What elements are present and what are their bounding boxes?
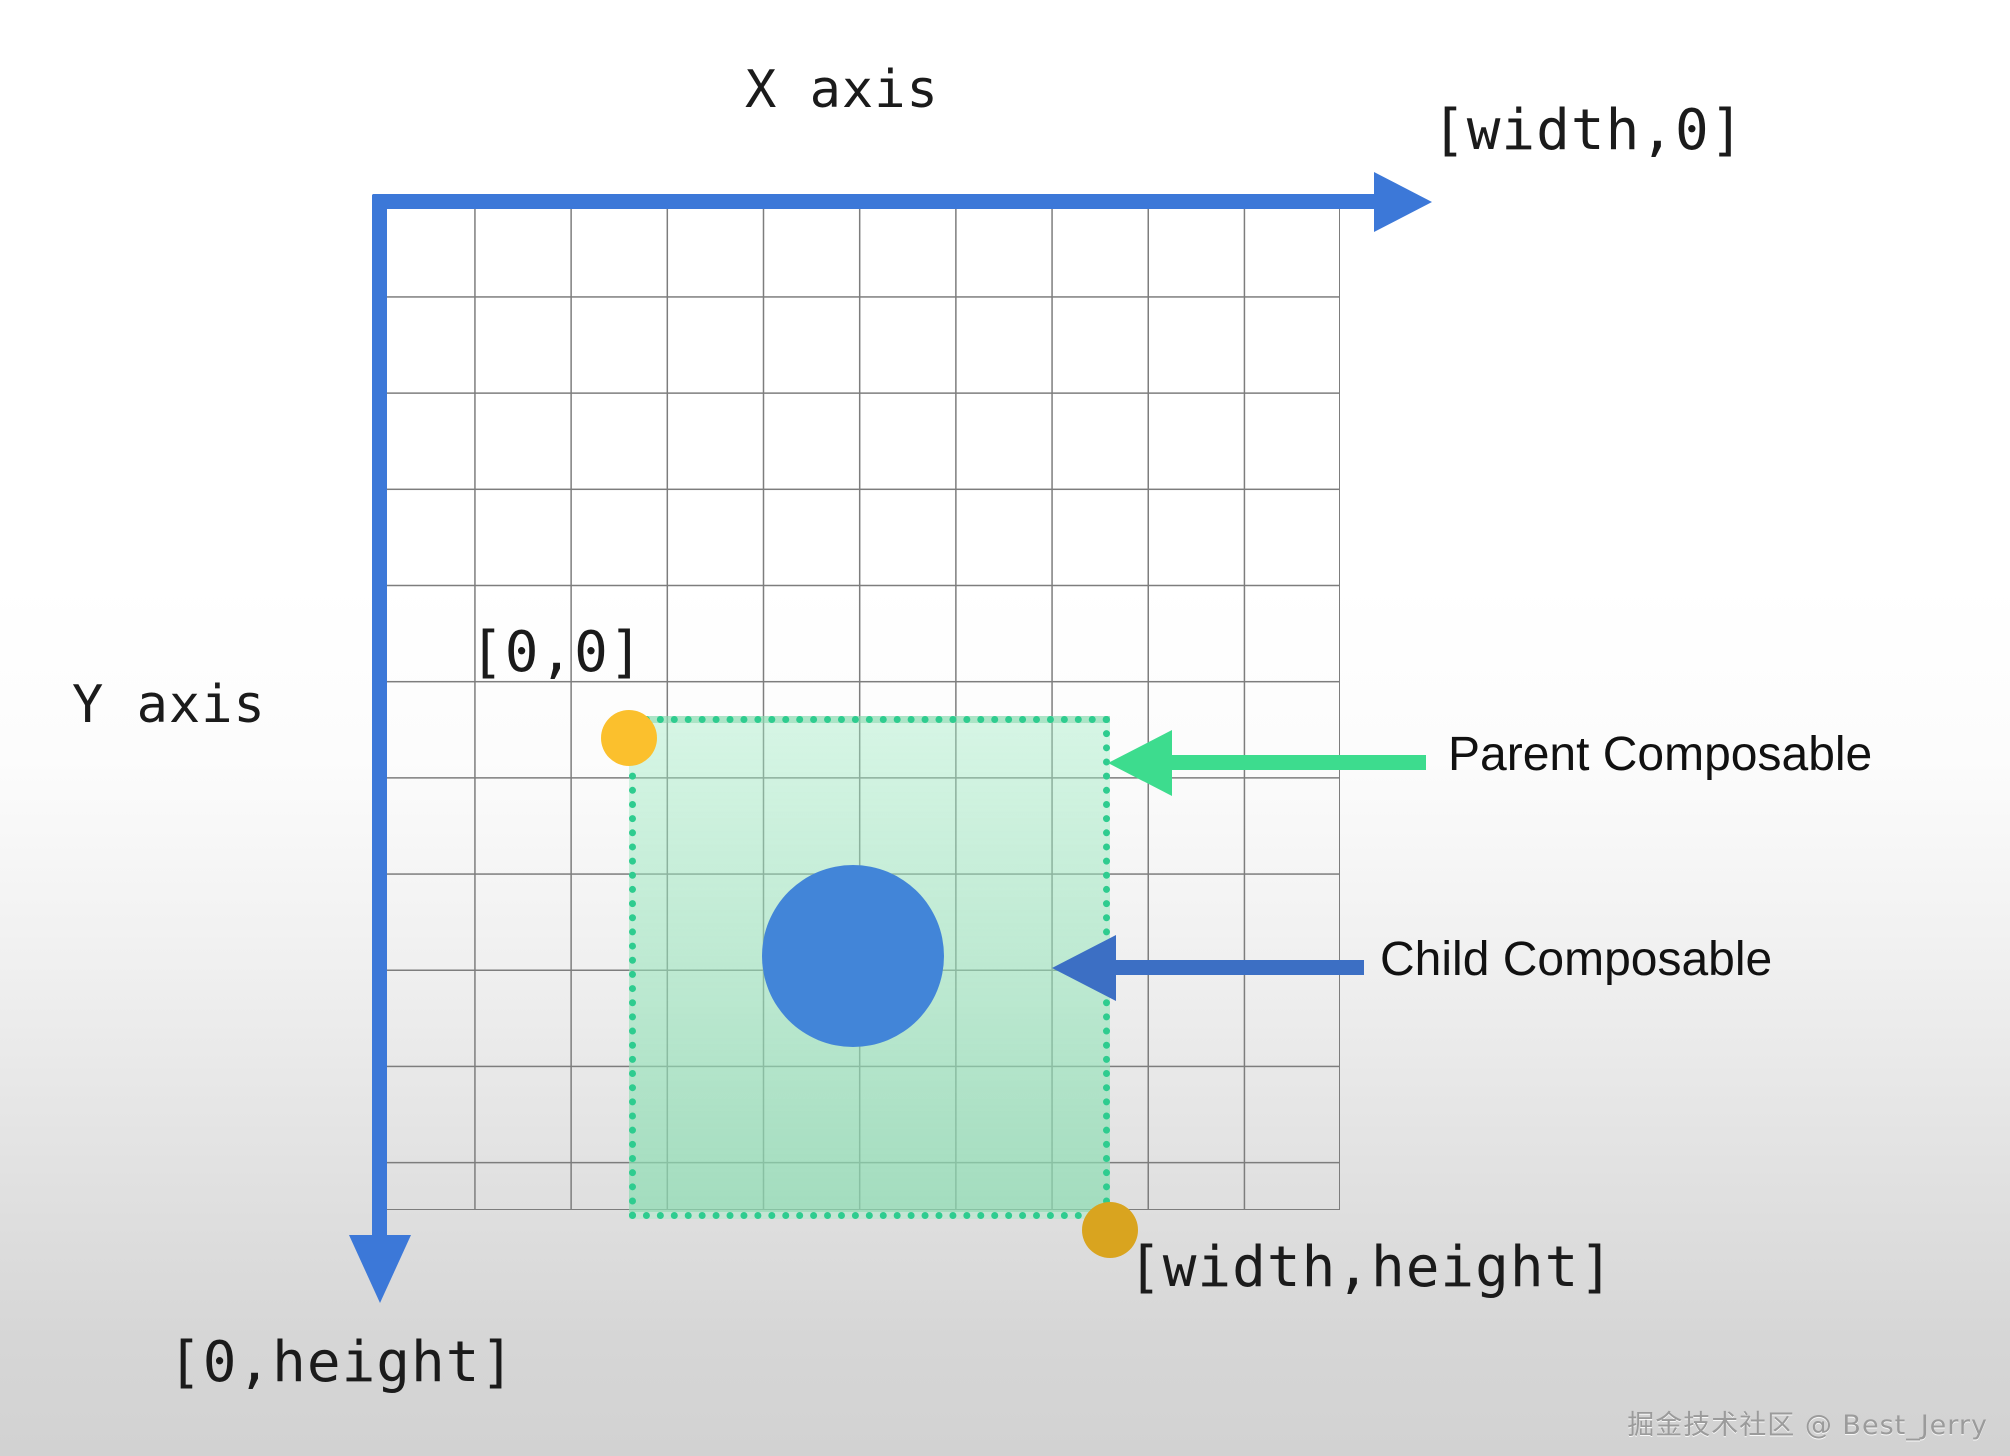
- parent-composable-label: Parent Composable: [1448, 727, 1872, 782]
- watermark: 掘金技术社区 @ Best_Jerry: [1627, 1403, 1988, 1442]
- child-annotation-arrowhead-icon: [1052, 935, 1116, 1001]
- coordinate-label-bottom-right: [width,height]: [1128, 1235, 1614, 1300]
- anchor-dot-origin: [601, 710, 657, 766]
- child-composable-label: Child Composable: [1380, 932, 1772, 987]
- x-axis-label: X axis: [745, 60, 939, 120]
- parent-annotation-arrow-line: [1168, 755, 1426, 770]
- x-axis-line: [372, 194, 1382, 209]
- diagram-canvas: X axis Y axis [width,0] [0,0] [width,hei…: [0, 0, 2010, 1456]
- parent-annotation-arrowhead-icon: [1108, 730, 1172, 796]
- coordinate-label-origin: [0,0]: [470, 620, 644, 685]
- child-annotation-arrow-line: [1112, 960, 1364, 975]
- x-axis-arrowhead-icon: [1374, 172, 1432, 232]
- y-axis-line: [372, 194, 387, 1239]
- coordinate-label-top-right: [width,0]: [1432, 98, 1744, 163]
- coordinate-label-bottom-left: [0,height]: [168, 1330, 515, 1395]
- y-axis-label: Y axis: [72, 675, 266, 735]
- child-composable-circle: [762, 865, 944, 1047]
- y-axis-arrowhead-icon: [349, 1235, 411, 1303]
